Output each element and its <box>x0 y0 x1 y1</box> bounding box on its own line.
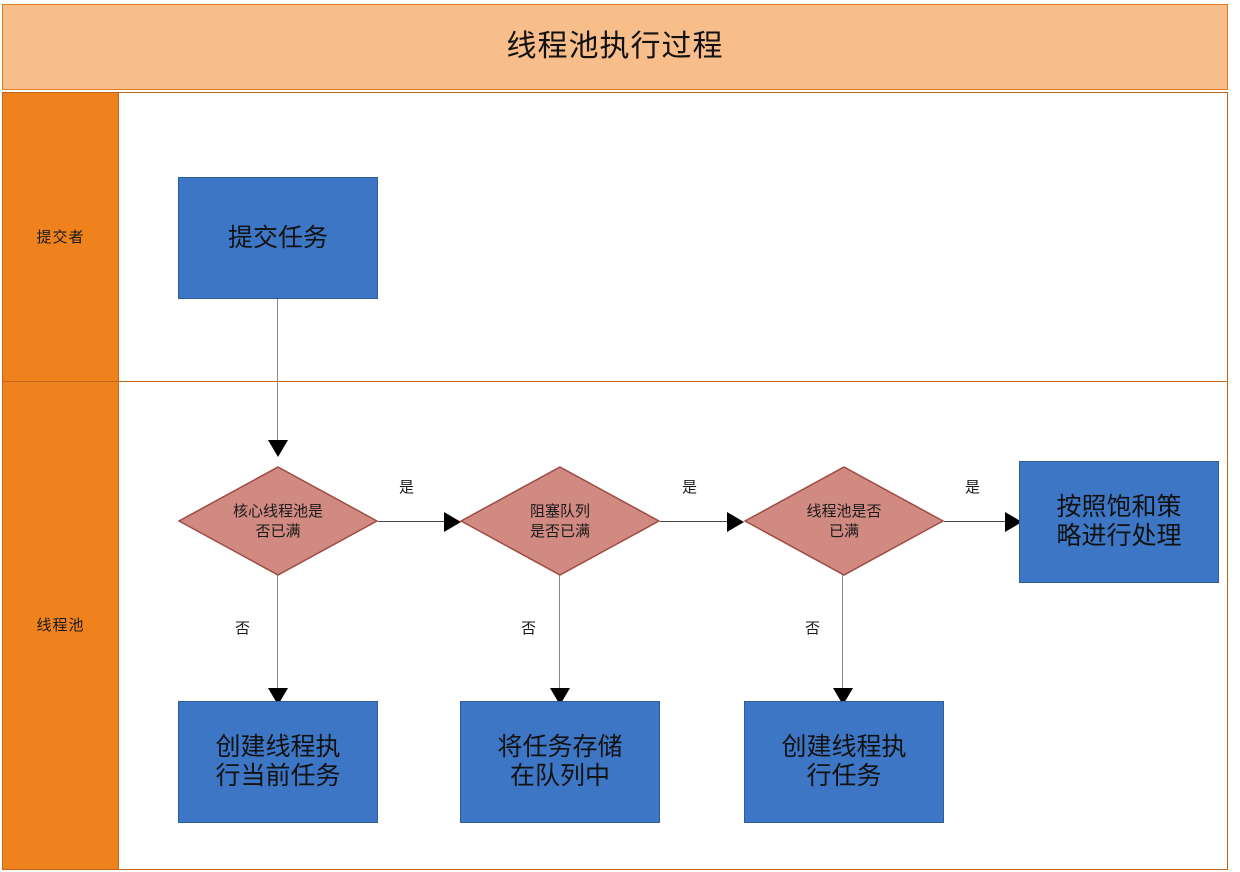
lane-header-submitter: 提交者 <box>2 92 119 382</box>
node-label-create-thread-task: 创建线程执 行任务 <box>773 733 914 791</box>
node-label-core-pool-full: 核心线程池是 否已满 <box>233 501 323 542</box>
edge-label-pool-yes: 是 <box>965 480 980 495</box>
diagram-title: 线程池执行过程 <box>507 32 724 62</box>
lane-label-submitter: 提交者 <box>36 230 84 245</box>
connector-pool-to-create-task <box>842 575 843 696</box>
arrowhead-core-to-queue <box>444 512 461 532</box>
node-create-thread-task[interactable]: 创建线程执 行任务 <box>744 701 944 823</box>
node-label-store-in-queue: 将任务存储 在队列中 <box>489 733 630 791</box>
lane-label-thread-pool: 线程池 <box>36 618 84 633</box>
arrowhead-submit-to-core <box>268 440 288 457</box>
node-label-pool-full: 线程池是否 已满 <box>806 501 881 542</box>
arrowhead-queue-to-pool <box>727 512 744 532</box>
node-label-submit-task: 提交任务 <box>220 224 336 253</box>
connector-queue-to-store <box>559 575 560 696</box>
lane-header-thread-pool: 线程池 <box>2 381 119 870</box>
diagram-title-bar: 线程池执行过程 <box>2 4 1228 90</box>
edge-label-queue-yes: 是 <box>682 480 697 495</box>
node-core-pool-full[interactable]: 核心线程池是 否已满 <box>178 466 378 576</box>
node-saturation-policy[interactable]: 按照饱和策 略进行处理 <box>1019 461 1219 583</box>
node-label-create-thread-current: 创建线程执 行当前任务 <box>207 733 348 791</box>
edge-label-core-no: 否 <box>235 621 250 636</box>
node-label-queue-full: 阻塞队列 是否已满 <box>530 501 590 542</box>
node-submit-task[interactable]: 提交任务 <box>178 177 378 299</box>
flowchart-canvas: 线程池执行过程 提交者 线程池 是 否 是 否 是 否 提交任务 <box>0 0 1240 872</box>
node-store-in-queue[interactable]: 将任务存储 在队列中 <box>460 701 660 823</box>
node-create-thread-current[interactable]: 创建线程执 行当前任务 <box>178 701 378 823</box>
node-queue-full[interactable]: 阻塞队列 是否已满 <box>460 466 660 576</box>
edge-label-core-yes: 是 <box>399 480 414 495</box>
edge-label-queue-no: 否 <box>521 621 536 636</box>
node-label-saturation-policy: 按照饱和策 略进行处理 <box>1048 493 1189 551</box>
edge-label-pool-no: 否 <box>805 621 820 636</box>
connector-submit-to-core <box>277 299 278 447</box>
connector-core-to-create-current <box>277 575 278 696</box>
node-pool-full[interactable]: 线程池是否 已满 <box>744 466 944 576</box>
